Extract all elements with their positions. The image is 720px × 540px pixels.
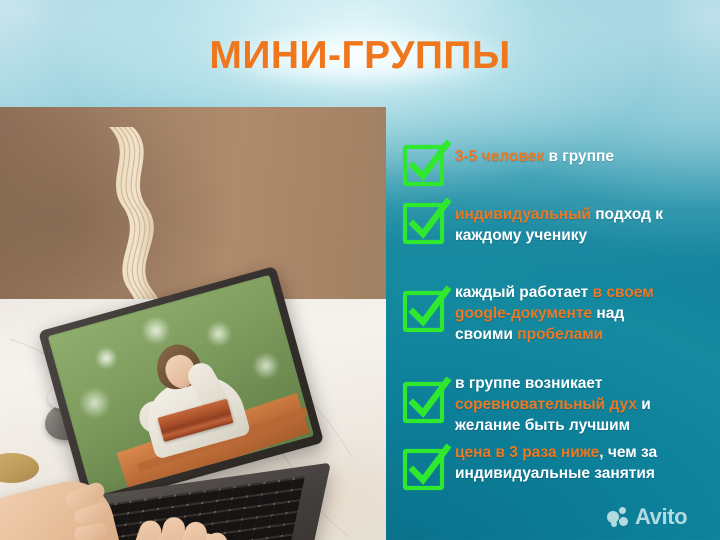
benefit-line: каждому ученику [455,225,663,246]
benefit-item: цена в 3 раза ниже, чем заиндивидуальные… [405,440,657,485]
benefit-plain: своими [455,326,517,343]
title-area: МИНИ-ГРУППЫ [0,26,720,86]
benefit-plain: каждый работает [455,284,593,301]
benefit-highlight: в своем [593,284,654,301]
page-title: МИНИ-ГРУППЫ [209,34,510,78]
benefit-plain: индивидуальные занятия [455,465,655,482]
check-box-icon [405,381,442,418]
benefit-highlight: индивидуальный [455,206,591,223]
benefit-highlight: 3-5 человек [455,148,544,165]
promo-slide: МИНИ-ГРУППЫ [0,0,720,540]
benefit-text: 3-5 человек в группе [455,144,614,167]
avito-dots-logo-icon [607,507,631,528]
benefit-highlight: google-документе [455,305,592,322]
check-box-icon [405,290,442,327]
benefit-line: индивидуальные занятия [455,463,657,484]
benefit-text: индивидуальный подход ккаждому ученику [455,202,663,246]
avito-brand-text: Avito [635,504,687,530]
benefit-text: каждый работает в своемgoogle-документе … [455,280,654,345]
benefit-highlight: соревновательный дух [455,396,637,413]
photo-wall-texture [0,107,386,313]
benefit-plain: желание быть лучшим [455,417,630,434]
benefit-item: в группе возникаетсоревновательный дух и… [405,371,651,436]
wavy-wood-decor [105,127,177,312]
benefit-line: в группе возникает [455,373,651,394]
benefit-highlight: пробелами [517,326,603,343]
benefit-line: google-документе над [455,303,654,324]
avito-watermark: Avito [607,504,687,530]
check-box-icon [405,202,442,239]
benefit-plain: над [592,305,624,322]
benefit-line: индивидуальный подход к [455,204,663,225]
benefit-text: цена в 3 раза ниже, чем заиндивидуальные… [455,440,657,484]
benefit-highlight: цена в 3 раза ниже [455,444,599,461]
check-box-icon [405,144,442,181]
benefit-plain: в группе возникает [455,375,602,392]
benefit-line: желание быть лучшим [455,415,651,436]
benefit-item: 3-5 человек в группе [405,144,614,181]
benefit-line: своими пробелами [455,324,654,345]
benefit-item: каждый работает в своемgoogle-документе … [405,280,654,345]
benefit-plain: в группе [544,148,614,165]
benefit-line: 3-5 человек в группе [455,146,614,167]
benefit-line: соревновательный дух и [455,394,651,415]
benefit-line: цена в 3 раза ниже, чем за [455,442,657,463]
benefit-text: в группе возникаетсоревновательный дух и… [455,371,651,436]
benefit-plain: и [637,396,651,413]
benefit-plain: подход к [591,206,663,223]
benefit-item: индивидуальный подход ккаждому ученику [405,202,663,246]
benefit-plain: , чем за [599,444,657,461]
photo-laptop-student [0,107,386,540]
benefit-line: каждый работает в своем [455,282,654,303]
check-box-icon [405,448,442,485]
benefit-plain: каждому ученику [455,227,587,244]
